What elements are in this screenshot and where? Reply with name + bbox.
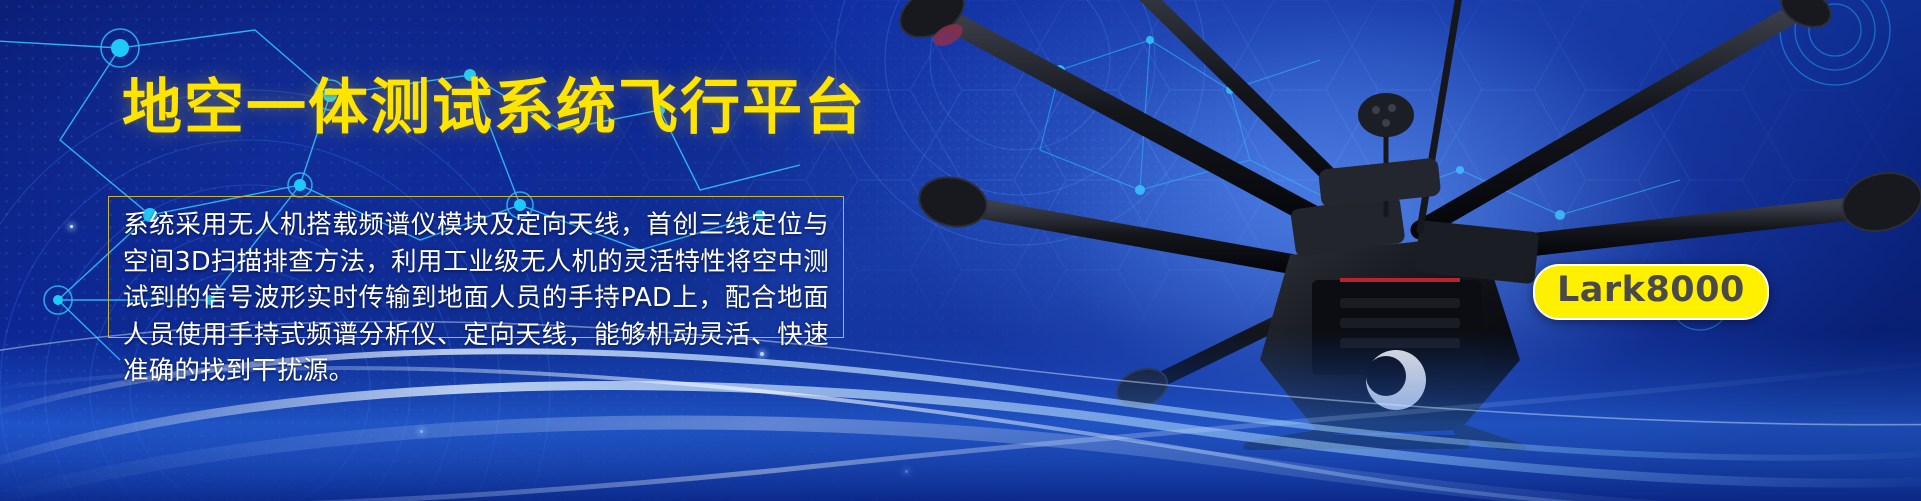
- sparkle-star: [905, 470, 908, 473]
- product-model-badge: Lark8000: [1533, 264, 1769, 320]
- drone-photo: [820, 0, 1921, 450]
- promo-banner: 地空一体测试系统飞行平台 系统采用无人机搭载频谱仪模块及定向天线，首创三线定位与…: [0, 0, 1921, 501]
- sparkle-star: [420, 430, 423, 433]
- page-title: 地空一体测试系统飞行平台: [122, 78, 866, 138]
- sparkle-star: [70, 225, 73, 228]
- description-text: 系统采用无人机搭载频谱仪模块及定向天线，首创三线定位与空间3D扫描排查方法，利用…: [123, 207, 829, 390]
- description-box: 系统采用无人机搭载频谱仪模块及定向天线，首创三线定位与空间3D扫描排查方法，利用…: [108, 196, 844, 338]
